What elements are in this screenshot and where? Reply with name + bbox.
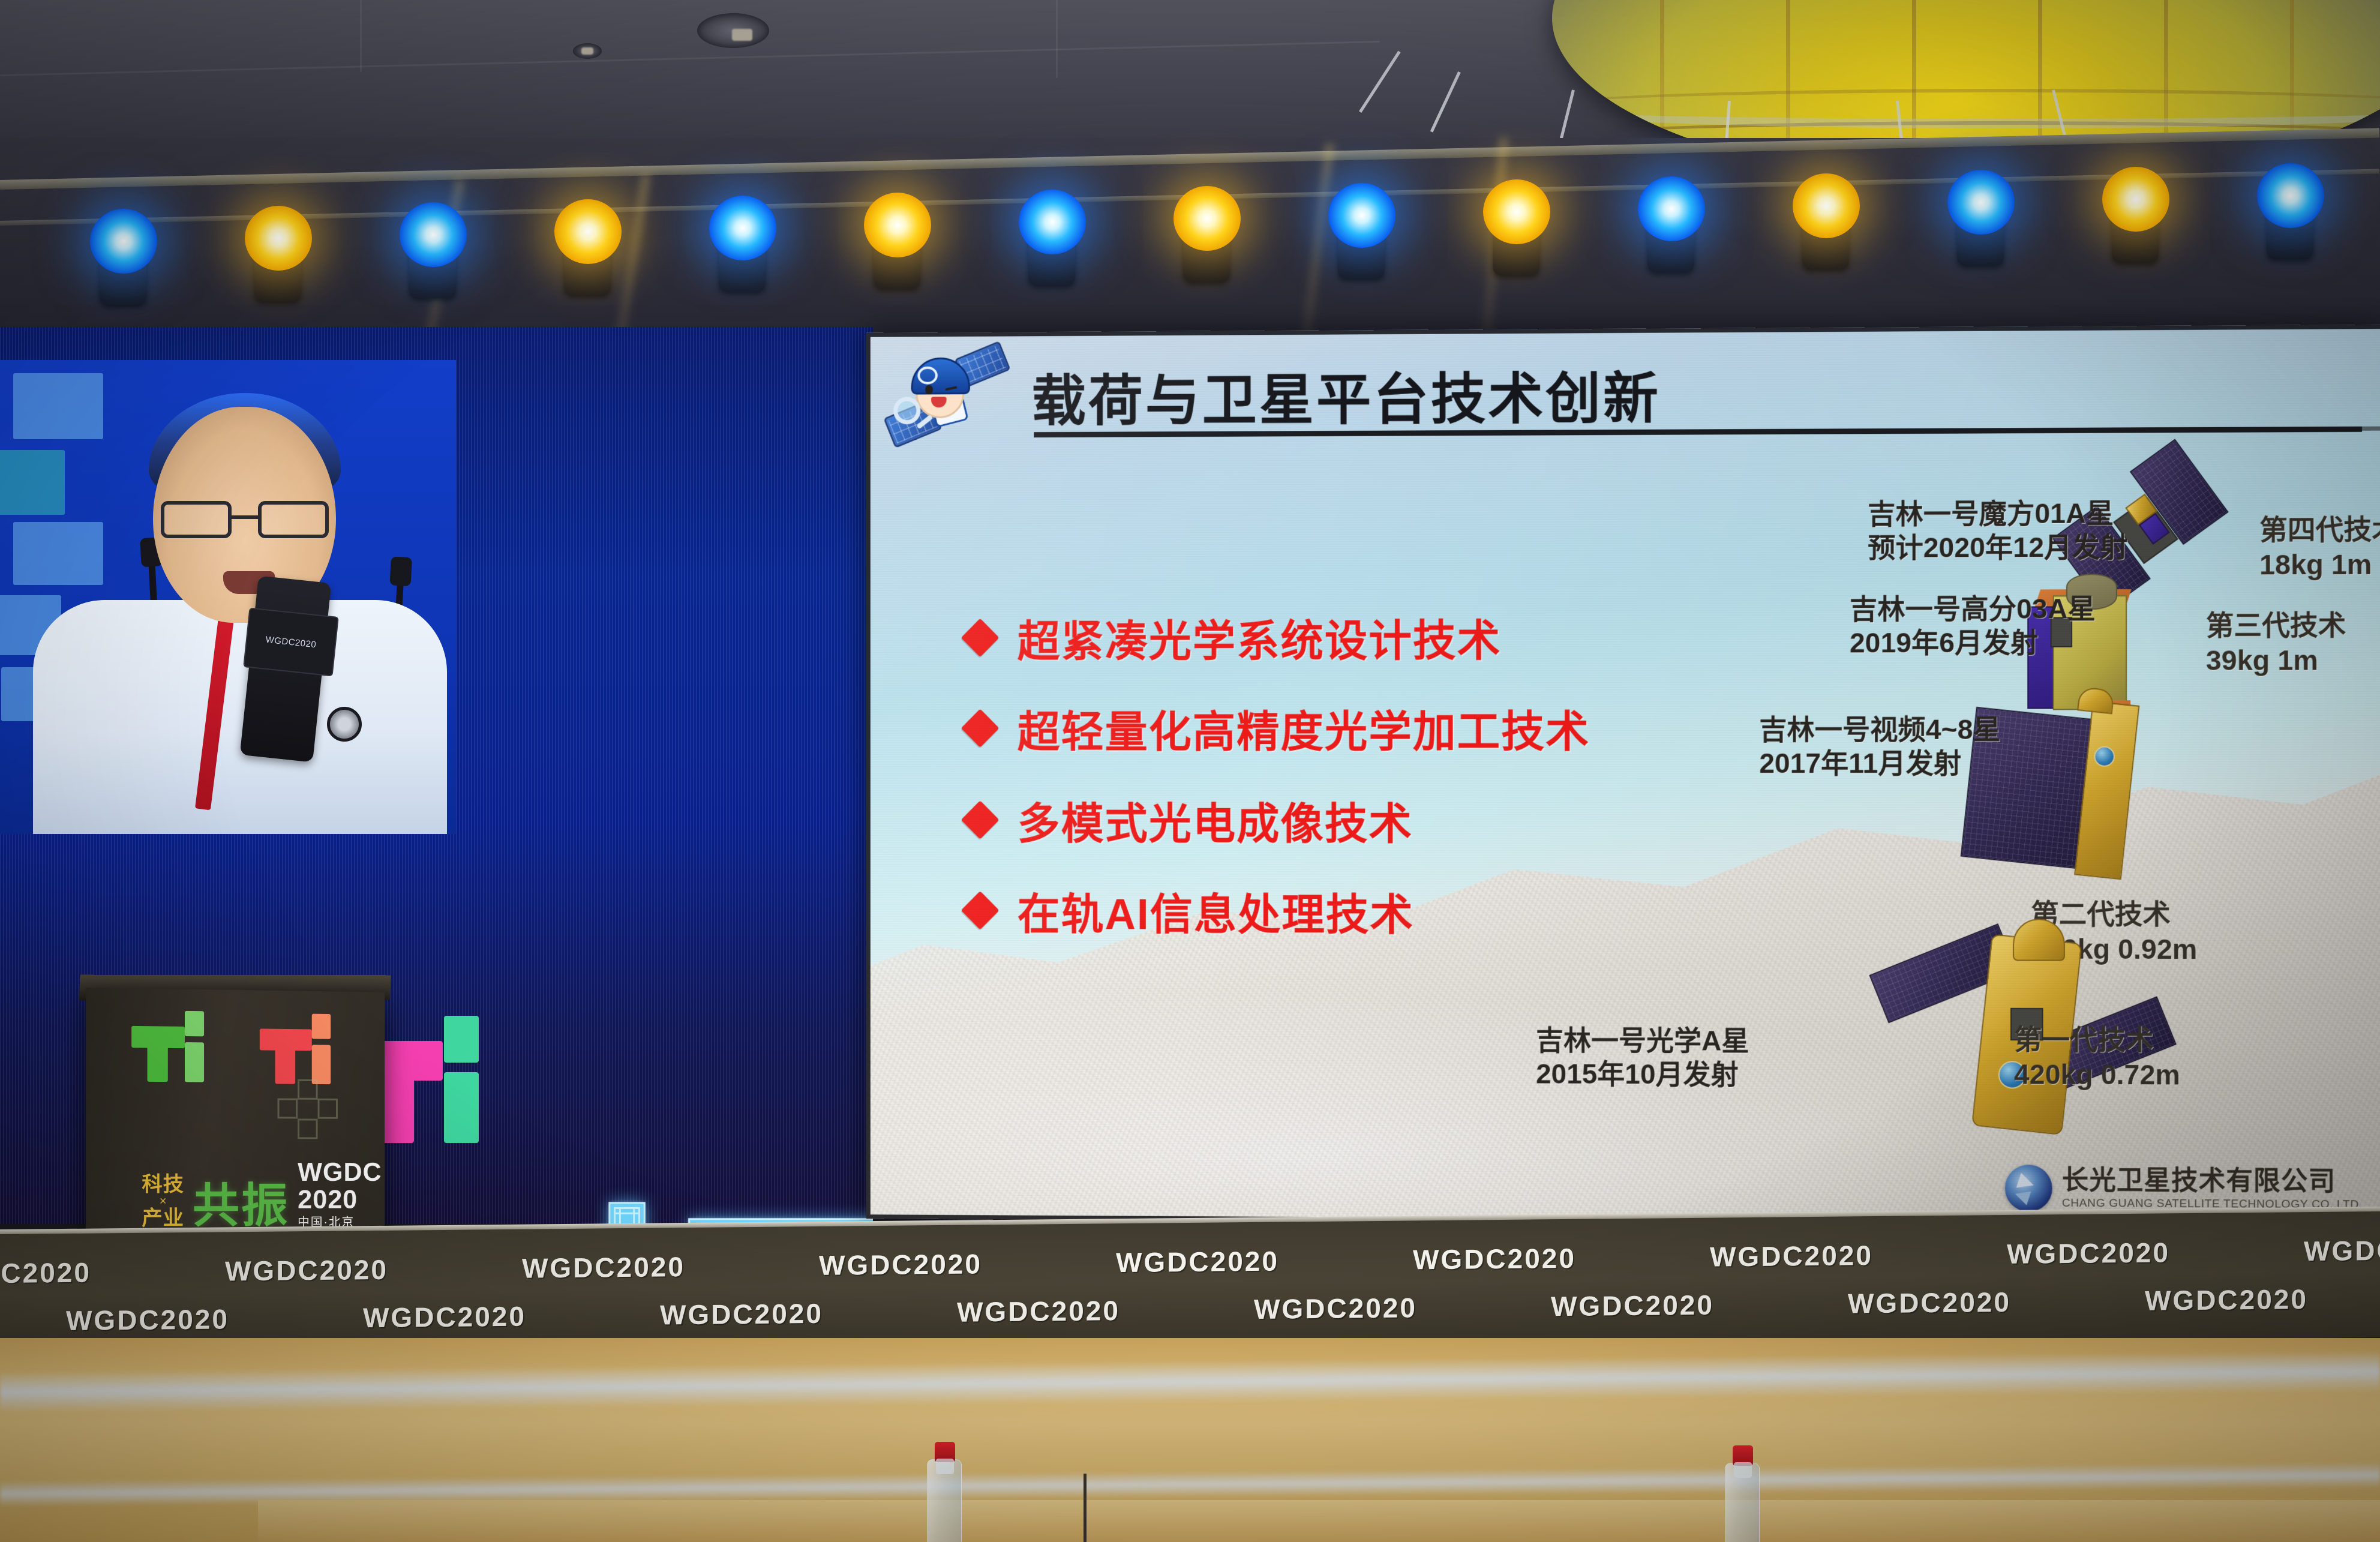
bullet-label: 超紧凑光学系统设计技术 — [1018, 605, 1502, 668]
satellite-label: 吉林一号视频4~8星 2017年11月发射 — [1759, 713, 2001, 781]
stage-light-yellow — [1787, 169, 1865, 268]
led-wall-big-character: 振 — [558, 1101, 873, 1224]
red-diamond-icon — [961, 800, 1000, 839]
generation-label: 第三代技术 39kg 1m — [2206, 608, 2346, 678]
podium-wgdc-line1: WGDC — [298, 1159, 382, 1186]
generation-name: 第一代技术 — [2014, 1022, 2180, 1058]
band-wgdc-text: WGDC2020 — [522, 1250, 685, 1285]
satellite-name: 吉林一号视频4~8星 — [1759, 713, 2001, 747]
stage-light-blue — [1941, 165, 2019, 264]
band-wgdc-text: WGDC2020 — [0, 1256, 91, 1291]
podium-cn-big: 共振 — [193, 1182, 289, 1229]
satellite-label: 吉林一号高分03A星 2019年6月发射 — [1850, 592, 2096, 659]
generation-name: 第四代技术 — [2259, 512, 2380, 548]
podium-cn-line2: 产业 — [142, 1208, 184, 1229]
generation-spec: 18kg 1m — [2259, 547, 2380, 583]
satellite-name: 吉林一号魔方01A星 — [1868, 496, 2127, 531]
satellite-mascot-icon — [889, 346, 995, 444]
recessed-ceiling-light — [697, 13, 769, 48]
stage-light-blue — [2251, 158, 2329, 257]
slide-title: 载荷与卫星平台技术创新 — [1031, 354, 1661, 436]
stage-light-yellow — [239, 201, 317, 300]
conference-stage-photo: WGDC2020 振 WGDC 2020 中国·北京 — [0, 0, 2380, 1542]
satellite-launch: 预计2020年12月发射 — [1868, 530, 2127, 565]
band-wgdc-text: WGDC2020 — [1551, 1289, 1714, 1323]
front-table — [258, 1500, 2380, 1542]
satellite-launch: 2017年11月发射 — [1759, 746, 2001, 780]
chang-guang-globe-icon — [2005, 1165, 2052, 1212]
satellite-label: 吉林一号魔方01A星 预计2020年12月发射 — [1868, 496, 2127, 565]
company-logo: 长光卫星技术有限公司 CHANG GUANG SATELLITE TECHNOL… — [2005, 1165, 2363, 1214]
band-wgdc-text: WGDC2020 — [225, 1253, 388, 1288]
water-bottle — [1725, 1463, 1760, 1542]
presentation-screen: 载荷与卫星平台技术创新 超紧凑光学系统设计技术 超轻量化高精度光学加工技术 多模… — [866, 325, 2380, 1227]
glasses-icon — [161, 501, 329, 538]
band-wgdc-text: WGDC2020 — [1413, 1242, 1576, 1276]
list-item: 在轨AI信息处理技术 — [967, 879, 1414, 943]
red-diamond-icon — [961, 890, 1000, 929]
stage-light-blue — [84, 204, 162, 303]
band-wgdc-text: WGDC2020 — [819, 1247, 982, 1282]
podium-cn-x: × — [142, 1195, 184, 1207]
ti-brand-mark-green — [131, 1013, 198, 1079]
podium-event-lockup: 科技 × 产业 共振 WGDC 2020 中国·北京 — [142, 1159, 382, 1229]
satellite-launch: 2019年6月发射 — [1850, 626, 2096, 660]
band-wgdc-text: WGDC2020 — [66, 1303, 229, 1337]
stage-light-blue — [703, 191, 781, 290]
satellite-name: 吉林一号光学A星 — [1536, 1024, 1749, 1058]
band-wgdc-text: WGDC2020 — [1710, 1239, 1873, 1273]
satellite-label: 吉林一号光学A星 2015年10月发射 — [1536, 1024, 1749, 1091]
live-feed-speaker-closeup: WGDC2020 — [0, 360, 456, 834]
stage-light-blue — [394, 197, 472, 296]
title-underline-extend — [2362, 427, 2380, 431]
generation-spec: 420kg 0.72m — [2014, 1057, 2180, 1093]
band-wgdc-text: WGDC2020 — [2304, 1234, 2380, 1268]
stage-light-blue — [1632, 172, 1710, 271]
red-diamond-icon — [961, 709, 1000, 748]
mic-flag-label: WGDC2020 — [243, 607, 339, 676]
band-wgdc-text: WGDC2020 — [2007, 1236, 2170, 1270]
list-item: 超紧凑光学系统设计技术 — [967, 605, 1501, 668]
podium-wgdc-line2: 2020 — [298, 1187, 382, 1213]
podium-wgdc-stack: WGDC 2020 中国·北京 — [298, 1159, 382, 1228]
bullet-label: 超轻量化高精度光学加工技术 — [1018, 696, 1590, 759]
band-wgdc-text: WGDC2020 — [957, 1294, 1120, 1328]
stage-light-yellow — [2096, 162, 2174, 261]
stage-light-blue — [1013, 185, 1091, 284]
speaker-torso — [33, 600, 447, 834]
band-wgdc-text: WGDC2020 — [1848, 1286, 2011, 1320]
slide-canvas: 载荷与卫星平台技术创新 超紧凑光学系统设计技术 超轻量化高精度光学加工技术 多模… — [866, 325, 2380, 1227]
band-wgdc-text: WGDC2020 — [1116, 1245, 1279, 1279]
recessed-ceiling-light — [573, 43, 602, 59]
satellite-launch: 2015年10月发射 — [1536, 1057, 1749, 1091]
band-wgdc-text: WGDC2020 — [363, 1300, 526, 1334]
water-bottle — [927, 1459, 962, 1542]
stage-light-yellow — [858, 188, 936, 287]
generation-spec: 39kg 1m — [2206, 643, 2346, 678]
company-name-cn: 长光卫星技术有限公司 — [2062, 1167, 2363, 1195]
bullet-list: 超紧凑光学系统设计技术 超轻量化高精度光学加工技术 多模式光电成像技术 在轨AI… — [967, 605, 1651, 977]
band-wgdc-text: WGDC2020 — [2145, 1283, 2308, 1317]
satellite-name: 吉林一号高分03A星 — [1850, 592, 2096, 626]
grid-decoration — [278, 1079, 349, 1145]
mic-stand — [1084, 1474, 1087, 1542]
ti-brand-mark-red — [260, 1015, 325, 1081]
generation-label: 第四代技术 18kg 1m — [2259, 512, 2380, 583]
generation-name: 第三代技术 — [2206, 608, 2346, 643]
red-diamond-icon — [961, 618, 1000, 657]
bullet-label: 在轨AI信息处理技术 — [1018, 879, 1414, 943]
stage-light-yellow — [1168, 181, 1245, 280]
podium-cn-line1: 科技 — [142, 1174, 184, 1195]
stage-light-blue — [1322, 178, 1400, 277]
list-item: 超轻量化高精度光学加工技术 — [967, 696, 1590, 759]
bullet-label: 多模式光电成像技术 — [1018, 788, 1413, 851]
band-wgdc-text: WGDC2020 — [1254, 1291, 1417, 1325]
band-wgdc-text: WGDC2020 — [660, 1297, 823, 1331]
stage-light-yellow — [548, 194, 626, 293]
list-item: 多模式光电成像技术 — [967, 788, 1413, 851]
podium-cn-stack: 科技 × 产业 — [142, 1174, 184, 1229]
stage-light-yellow — [1477, 175, 1555, 274]
generation-label: 第一代技术 420kg 0.72m — [2014, 1022, 2180, 1093]
wristwatch — [327, 707, 362, 742]
